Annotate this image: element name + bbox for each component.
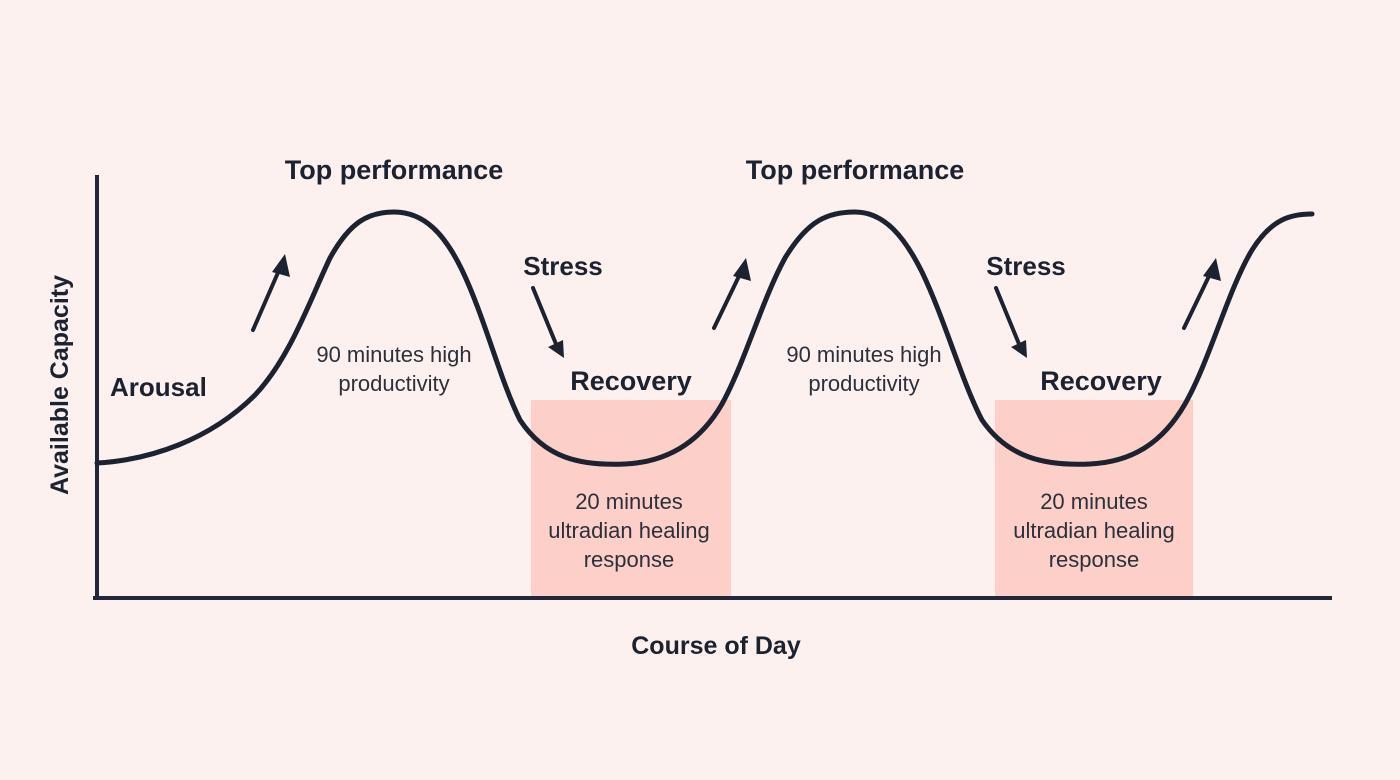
healing-2-line-2: ultradian healing (1013, 518, 1174, 543)
productivity-2-line-2: productivity (808, 371, 919, 396)
label-top-performance-2: Top performance (746, 155, 965, 185)
productivity-2-line-1: 90 minutes high (786, 342, 941, 367)
healing-1-line-2: ultradian healing (548, 518, 709, 543)
label-recovery-2: Recovery (1040, 366, 1162, 396)
label-arousal: Arousal (110, 372, 207, 402)
healing-2-line-3: response (1049, 547, 1140, 572)
healing-1-line-1: 20 minutes (575, 489, 683, 514)
label-top-performance-1: Top performance (285, 155, 504, 185)
label-recovery-1: Recovery (570, 366, 692, 396)
y-axis-title: Available Capacity (46, 275, 74, 495)
ultradian-rhythm-chart: Available Capacity Course of Day Arousal… (0, 0, 1400, 780)
productivity-1-line-2: productivity (338, 371, 449, 396)
healing-2-line-1: 20 minutes (1040, 489, 1148, 514)
label-stress-2: Stress (986, 251, 1066, 281)
healing-1-line-3: response (584, 547, 675, 572)
label-stress-1: Stress (523, 251, 603, 281)
productivity-1-line-1: 90 minutes high (316, 342, 471, 367)
x-axis-title: Course of Day (631, 632, 801, 660)
